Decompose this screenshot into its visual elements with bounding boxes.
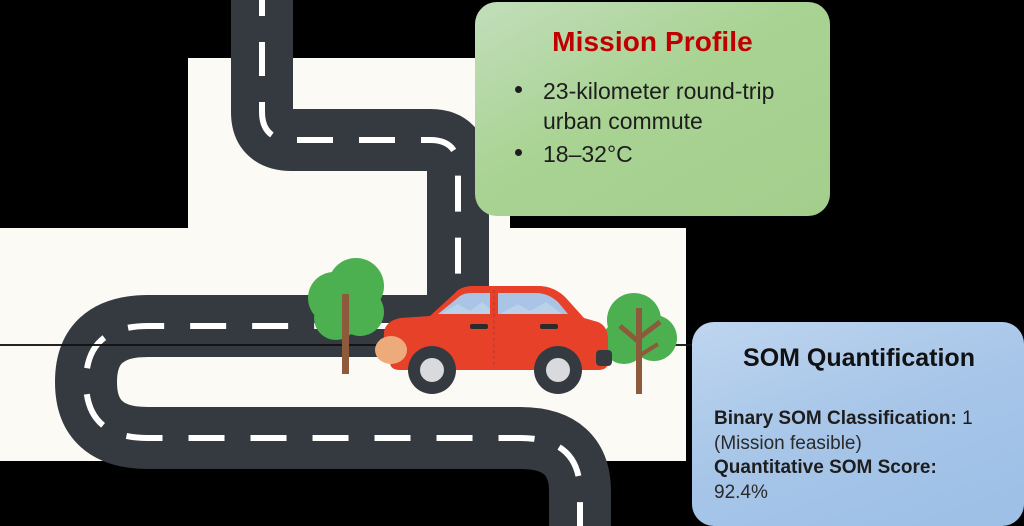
mission-profile-card: Mission Profile 23-kilometer round-trip … (475, 2, 830, 216)
mission-profile-bullet: 23-kilometer round-trip urban commute (497, 76, 808, 137)
som-score-label-line: Quantitative SOM Score: (714, 456, 1004, 481)
som-quantification-title: SOM Quantification (714, 344, 1004, 373)
car-headlight (375, 336, 407, 364)
bullet-dot-icon (515, 86, 522, 93)
mission-profile-bullet-text: 18–32°C (543, 141, 633, 167)
som-binary-label: Binary SOM Classification: (714, 408, 957, 429)
som-binary-classification-line: Binary SOM Classification: 1 (714, 407, 1004, 432)
som-binary-note: (Mission feasible) (714, 432, 1004, 457)
mission-profile-bullet-text: 23-kilometer round-trip urban commute (543, 78, 774, 134)
som-score-label: Quantitative SOM Score: (714, 457, 937, 478)
som-quantification-card: SOM Quantification Binary SOM Classifica… (692, 322, 1024, 526)
mission-profile-bullet: 18–32°C (497, 139, 808, 169)
mission-profile-title: Mission Profile (497, 26, 808, 58)
som-score-value: 92.4% (714, 481, 1004, 506)
som-binary-value: 1 (962, 408, 973, 429)
bullet-dot-icon (515, 149, 522, 156)
car-illustration (370, 278, 616, 396)
illustration-canvas: Mission Profile 23-kilometer round-trip … (0, 0, 1024, 526)
mission-profile-bullet-list: 23-kilometer round-trip urban commute 18… (497, 76, 808, 169)
